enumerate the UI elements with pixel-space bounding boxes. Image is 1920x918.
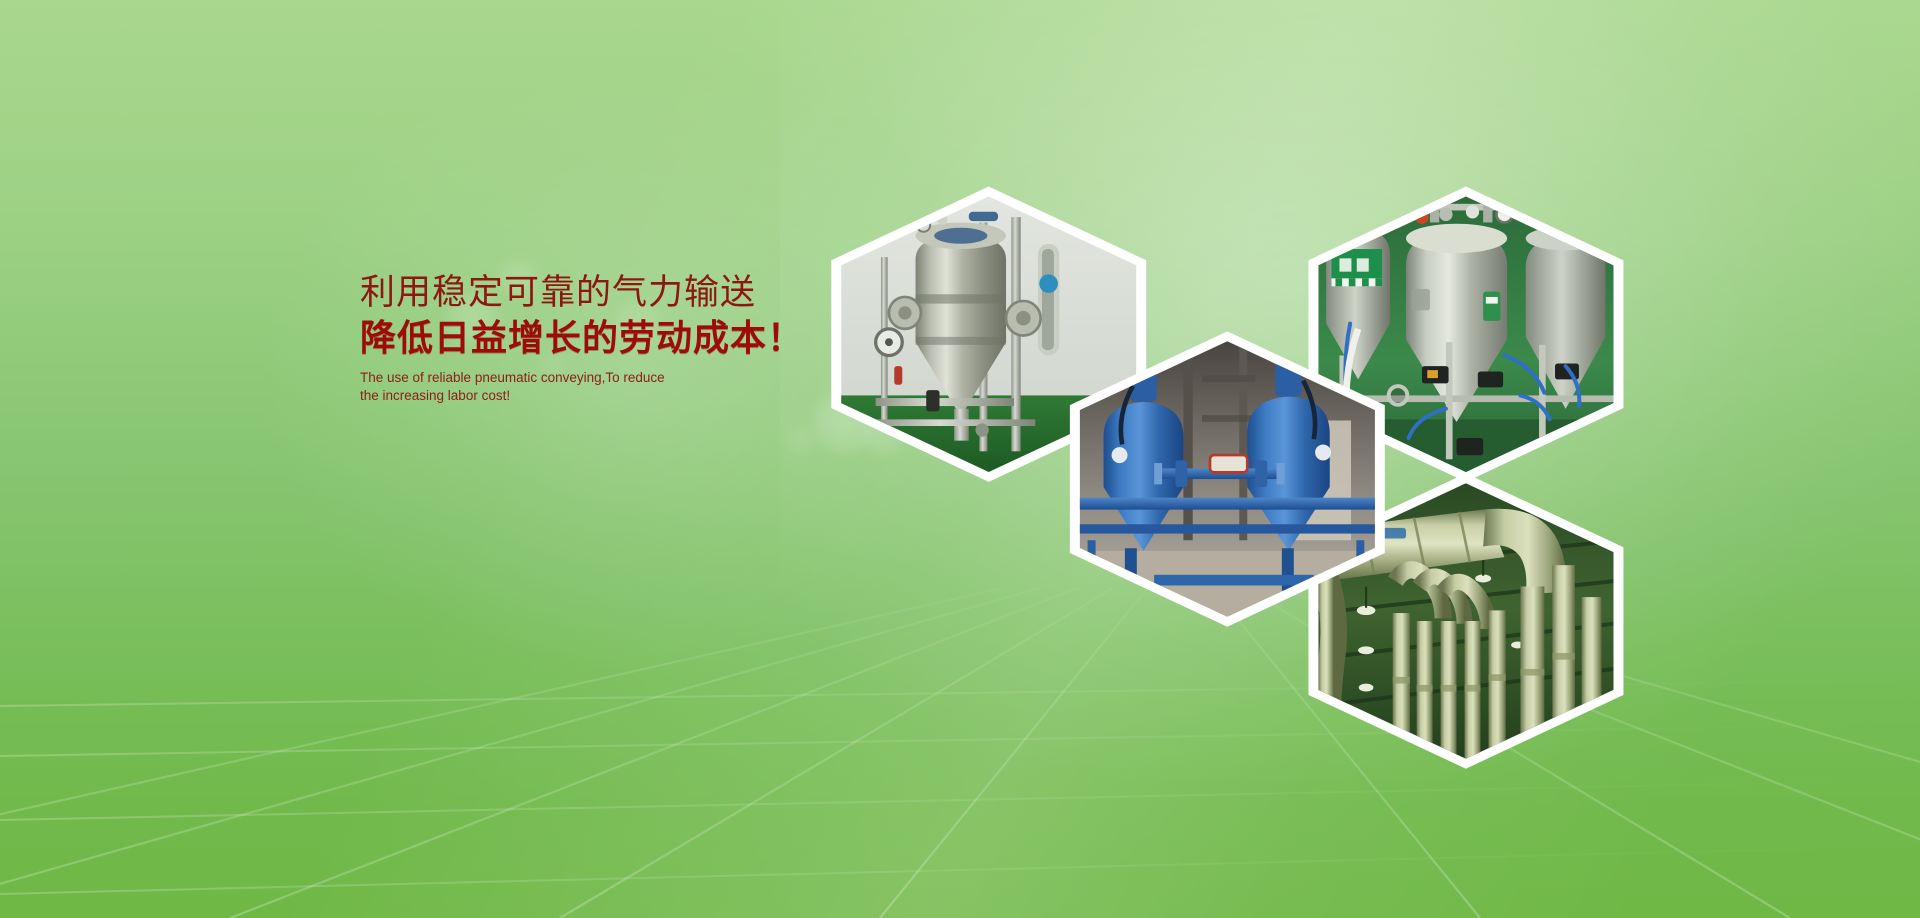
hex-image-blue-vessels <box>1080 341 1375 616</box>
silo-pump-sign <box>1331 249 1382 286</box>
hero-banner: 利用稳定可靠的气力输送 降低日益增长的劳动成本！ The use of reli… <box>0 0 1920 918</box>
hexagon-photo-cluster <box>780 178 1920 918</box>
